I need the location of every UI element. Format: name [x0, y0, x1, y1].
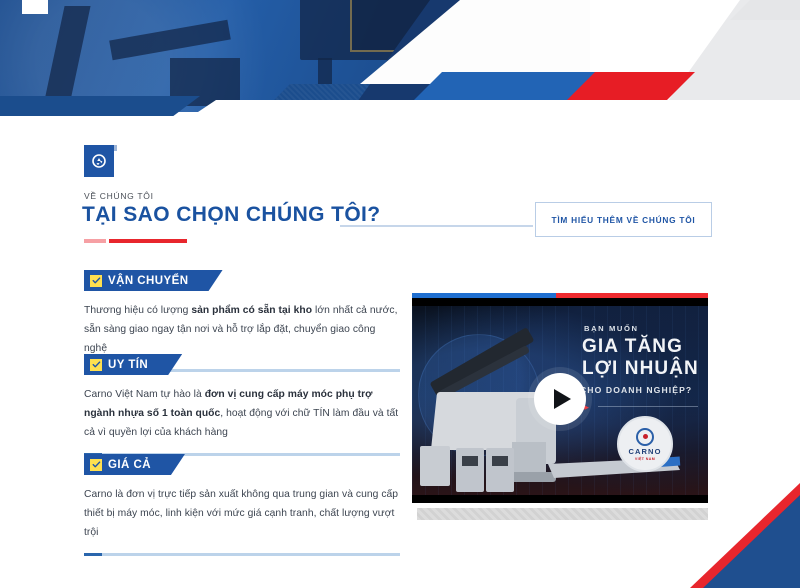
decorative-corner [690, 483, 800, 588]
page-title: TẠI SAO CHỌN CHÚNG TÔI? [82, 203, 381, 227]
video-headline-1: BẠN MUỐN [584, 324, 639, 333]
feature-text: Thương hiệu có lượng sản phẩm có sẵn tại… [84, 301, 400, 358]
video-headline-2: GIA TĂNG [582, 336, 683, 358]
feature-text-before: Thương hiệu có lượng [84, 305, 191, 316]
recycle-badge-icon [84, 145, 114, 177]
hero-banner [0, 0, 800, 120]
video-headline-4: CHO DOANH NGHIỆP? [580, 385, 692, 395]
control-cabinet [456, 448, 484, 492]
play-triangle [554, 389, 571, 409]
logo-ring-icon [636, 428, 654, 446]
control-cabinet [486, 448, 514, 492]
feature-text-bold: sản phẩm có sẵn tại kho [191, 305, 312, 316]
banner-white-box [22, 0, 48, 14]
control-cabinet [420, 446, 450, 486]
feature-tag: VẬN CHUYỂN [84, 270, 223, 291]
about-us-section: VỀ CHÚNG TÔI TẠI SAO CHỌN CHÚNG TÔI? TÌM… [0, 120, 800, 588]
feature-block-trust: UY TÍN Carno Việt Nam tự hào là đơn vị c… [84, 354, 400, 456]
feature-text-before: Carno Việt Nam tự hào là [84, 389, 205, 400]
feature-divider [84, 553, 400, 556]
feature-tag-label: GIÁ CẢ [108, 459, 151, 471]
feature-text: Carno là đơn vị trực tiếp sản xuất không… [84, 485, 400, 542]
video-frame[interactable]: BẠN MUỐN GIA TĂNG LỢI NHUẬN CHO DOANH NG… [412, 298, 708, 503]
logo-text: CARNO [629, 447, 662, 456]
feature-tag: UY TÍN [84, 354, 182, 375]
feature-tag-label: UY TÍN [108, 359, 148, 371]
logo-subtext: VIỆT NAM [635, 457, 655, 461]
feature-text: Carno Việt Nam tự hào là đơn vị cung cấp… [84, 385, 400, 442]
check-icon [90, 459, 102, 471]
feature-tag: GIÁ CẢ [84, 454, 185, 475]
cabinet-panel [492, 456, 508, 466]
badge-fold [114, 145, 117, 151]
promo-video[interactable]: BẠN MUỐN GIA TĂNG LỢI NHUẬN CHO DOANH NG… [412, 293, 708, 508]
video-rule [598, 406, 698, 407]
video-bottom-strip [417, 508, 708, 520]
underline-solid [109, 239, 187, 243]
machine-part [45, 6, 90, 96]
check-icon [90, 359, 102, 371]
section-eyebrow: VỀ CHÚNG TÔI [84, 191, 154, 201]
learn-more-button[interactable]: TÌM HIỂU THÊM VỀ CHÚNG TÔI [535, 202, 712, 237]
video-headline-3: LỢI NHUẬN [582, 358, 699, 380]
underline-light [84, 239, 106, 243]
feature-tag-label: VẬN CHUYỂN [108, 275, 189, 287]
carno-logo: CARNO VIỆT NAM [617, 416, 673, 472]
feature-text-before: Carno là đơn vị trực tiếp sản xuất không… [84, 489, 398, 538]
machine-part [109, 20, 231, 61]
cabinet-panel [462, 456, 478, 466]
play-icon[interactable] [534, 373, 586, 425]
headline-rule [340, 225, 533, 227]
feature-block-price: GIÁ CẢ Carno là đơn vị trực tiếp sản xuấ… [84, 454, 400, 556]
check-icon [90, 275, 102, 287]
